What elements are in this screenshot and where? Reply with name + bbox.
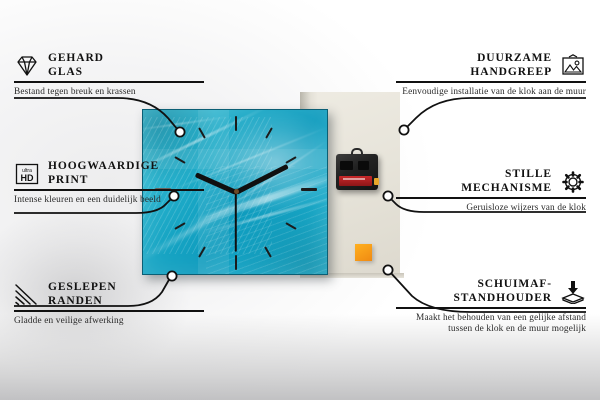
divider xyxy=(396,307,586,309)
clock-center-hub xyxy=(234,189,239,194)
feature-description: Geruisloze wijzers van de klok xyxy=(396,203,586,214)
feature-geslepen-randen: GESLEPEN RANDEN Gladde en veilige afwerk… xyxy=(14,281,204,327)
movement-shaft xyxy=(351,148,363,155)
movement-slot xyxy=(358,161,369,170)
clock-tick xyxy=(235,255,237,270)
divider xyxy=(14,81,204,83)
feature-header: ultra HD HOOGWAARDIGE PRINT xyxy=(14,160,204,187)
clock-second-hand xyxy=(235,192,237,252)
divider xyxy=(14,189,204,191)
feature-header: SCHUIMAF- STANDHOUDER xyxy=(396,278,586,305)
feature-header: GESLEPEN RANDEN xyxy=(14,281,204,308)
gear-icon xyxy=(560,170,586,194)
feature-description: Gladde en veilige afwerking xyxy=(14,316,204,327)
feature-title: SCHUIMAF- STANDHOUDER xyxy=(453,278,552,305)
feature-description: Maakt het behouden van een gelijke afsta… xyxy=(396,313,586,336)
feature-gehard-glas: GEHARD GLAS Bestand tegen breuk en krass… xyxy=(14,52,204,98)
diagonal-lines-icon xyxy=(14,283,40,307)
battery-terminal xyxy=(374,178,379,185)
feature-schuimafstandhouder: SCHUIMAF- STANDHOUDER Maakt het behouden… xyxy=(396,278,586,335)
feature-header: GEHARD GLAS xyxy=(14,52,204,79)
battery xyxy=(339,176,372,186)
feature-title: DUURZAME HANDGREEP xyxy=(470,52,552,79)
spacer-arrow-icon xyxy=(560,280,586,304)
feature-header: DUURZAME HANDGREEP xyxy=(396,52,586,79)
feature-title: GESLEPEN RANDEN xyxy=(48,281,117,308)
divider xyxy=(14,310,204,312)
divider xyxy=(396,197,586,199)
feature-title: STILLE MECHANISME xyxy=(461,168,552,195)
feature-header: STILLE MECHANISME xyxy=(396,168,586,195)
diamond-icon xyxy=(14,54,40,78)
divider xyxy=(396,81,586,83)
svg-text:HD: HD xyxy=(21,173,34,183)
clock-tick xyxy=(235,116,237,131)
clock-movement xyxy=(336,154,378,190)
feature-description: Intense kleuren en een duidelijk beeld xyxy=(14,195,204,206)
ultra-hd-icon: ultra HD xyxy=(14,162,40,186)
feature-duurzame-handgreep: DUURZAME HANDGREEP Eenvoudige installati… xyxy=(396,52,586,98)
feature-title: HOOGWAARDIGE PRINT xyxy=(48,160,159,187)
movement-slot xyxy=(340,161,353,170)
feature-hoogwaardige-print: ultra HD HOOGWAARDIGE PRINT Intense kleu… xyxy=(14,160,204,206)
feature-description: Bestand tegen breuk en krassen xyxy=(14,87,204,98)
feature-description: Eenvoudige installatie van de klok aan d… xyxy=(396,87,586,98)
clock-tick xyxy=(301,188,317,191)
picture-frame-icon xyxy=(560,54,586,78)
feature-title: GEHARD GLAS xyxy=(48,52,104,79)
foam-spacer xyxy=(355,244,372,261)
feature-stille-mechanisme: STILLE MECHANISME Geruisloze wijzers van… xyxy=(396,168,586,214)
battery-label-strip xyxy=(343,178,365,180)
